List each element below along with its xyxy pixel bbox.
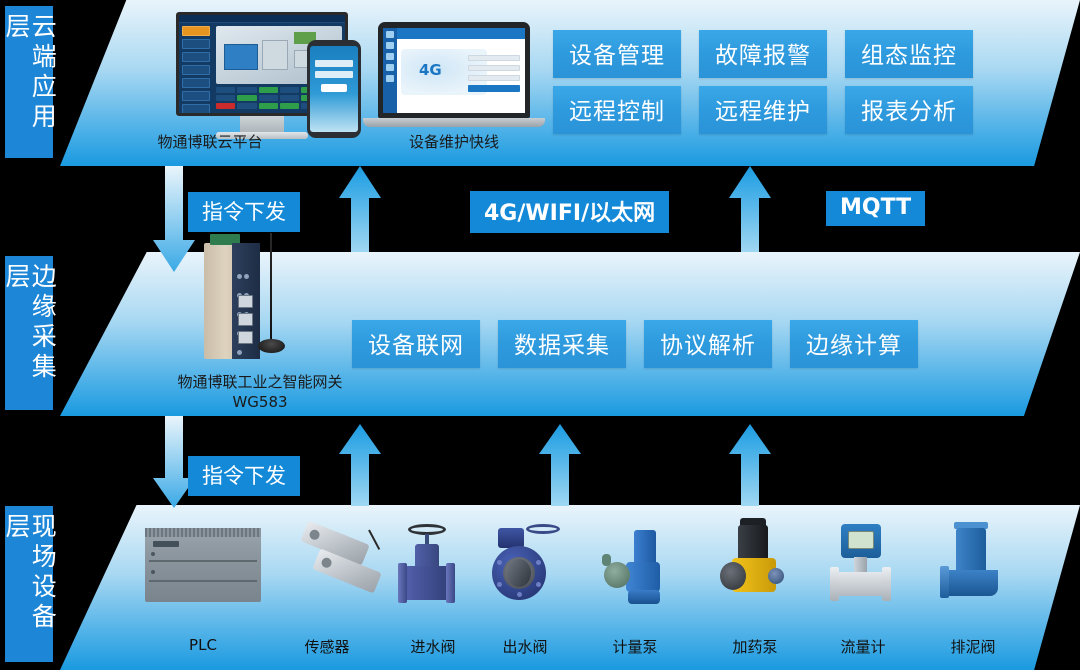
- gateway-port-1: [238, 295, 253, 308]
- four-g-graphic: 4G: [419, 61, 442, 79]
- cloud-feature-row-2: 远程控制 远程维护 报表分析: [553, 86, 973, 134]
- caption-maintenance-line: 设备维护快线: [368, 132, 540, 152]
- butterfly-valve-disc: [507, 559, 531, 587]
- flow-meter-flange-right: [882, 567, 891, 601]
- architecture-diagram: 云端应用层: [0, 0, 1080, 670]
- arrow-field-uplink-3: [728, 424, 772, 506]
- gate-valve-flange-right: [446, 563, 455, 603]
- gateway-led-array: [236, 265, 255, 287]
- arrow-field-uplink-1: [338, 424, 382, 506]
- gateway-antenna-base: [258, 339, 285, 353]
- pill-command-dispatch-bottom: 指令下发: [188, 456, 300, 496]
- arrow-uplink-2: [728, 166, 772, 252]
- feature-scada-monitoring[interactable]: 组态监控: [845, 30, 973, 78]
- caption-gateway: 物通博联工业之智能网关 WG583: [140, 372, 380, 413]
- gateway-body: [204, 243, 260, 359]
- device-label-plc: PLC: [148, 636, 258, 654]
- laptop-screen: 4G: [383, 28, 525, 113]
- gate-valve-flange-left: [398, 563, 407, 603]
- sludge-valve-flange: [940, 566, 949, 598]
- laptop-base: [363, 118, 545, 127]
- edge-gateway-device: [204, 243, 260, 359]
- dosing-pump-head: [720, 562, 746, 590]
- gateway-antenna: [270, 233, 272, 345]
- device-plc: [145, 528, 261, 602]
- flow-meter-flange-left: [830, 567, 839, 601]
- pill-command-dispatch-top: 指令下发: [188, 192, 300, 232]
- device-label-sludge-valve: 排泥阀: [918, 636, 1028, 657]
- feature-device-networking[interactable]: 设备联网: [352, 320, 480, 368]
- edge-feature-row: 设备联网 数据采集 协议解析 边缘计算: [352, 320, 918, 368]
- laptop-lid: 4G: [378, 22, 530, 118]
- device-label-dosing-pump: 加药泵: [700, 636, 810, 657]
- caption-cloud-platform: 物通博联云平台: [120, 132, 300, 152]
- pill-mqtt: MQTT: [826, 191, 925, 226]
- layer-title-field: 现场设备层: [5, 506, 53, 662]
- pill-network-protocol: 4G/WIFI/以太网: [470, 191, 669, 233]
- feature-remote-control[interactable]: 远程控制: [553, 86, 681, 134]
- gateway-name: 物通博联工业之智能网关: [177, 373, 342, 391]
- sludge-valve-body: [946, 570, 998, 596]
- butterfly-valve-actuator: [498, 528, 524, 548]
- monitor-stand: [240, 116, 284, 132]
- cloud-phone: [307, 40, 361, 138]
- app-titlebar: [397, 28, 525, 39]
- flow-meter-display: [848, 531, 874, 549]
- gate-valve-body: [404, 566, 450, 600]
- device-label-outlet-valve: 出水阀: [470, 636, 580, 657]
- flow-meter-transmitter: [841, 524, 881, 558]
- arrow-field-uplink-2: [538, 424, 582, 506]
- flow-meter-body: [833, 572, 889, 596]
- gateway-port-2: [238, 313, 253, 326]
- plc-brand-logo: [153, 541, 179, 547]
- plc-vent: [145, 528, 261, 537]
- layer-title-edge: 边缘采集层: [5, 256, 53, 410]
- metering-pump-housing: [626, 562, 660, 592]
- scada-nav: [179, 23, 213, 113]
- feature-fault-alarm[interactable]: 故障报警: [699, 30, 827, 78]
- gateway-front-panel: [232, 243, 260, 359]
- flow-meter-neck: [854, 557, 867, 573]
- metering-pump-motor: [634, 530, 656, 564]
- gateway-model: WG583: [232, 393, 287, 411]
- feature-remote-maintenance[interactable]: 远程维护: [699, 86, 827, 134]
- feature-protocol-parsing[interactable]: 协议解析: [644, 320, 772, 368]
- butterfly-valve-handwheel: [526, 524, 560, 534]
- device-label-flow-meter: 流量计: [808, 636, 918, 657]
- gate-valve-bonnet: [415, 544, 439, 566]
- arrow-uplink-1: [338, 166, 382, 252]
- phone-screen: [310, 46, 358, 132]
- device-label-sensor: 传感器: [272, 636, 382, 657]
- dosing-pump-motor: [738, 525, 768, 559]
- metering-pump-inlet: [602, 554, 611, 566]
- monitor-titlebar: [179, 15, 345, 23]
- cloud-feature-row-1: 设备管理 故障报警 组态监控: [553, 30, 973, 78]
- gateway-port-3: [238, 331, 253, 344]
- feature-edge-computing[interactable]: 边缘计算: [790, 320, 918, 368]
- plc-body: [145, 528, 261, 602]
- feature-device-management[interactable]: 设备管理: [553, 30, 681, 78]
- feature-data-acquisition[interactable]: 数据采集: [498, 320, 626, 368]
- butterfly-valve-body: [492, 546, 546, 600]
- dosing-pump-valve: [768, 568, 784, 584]
- login-form: [468, 55, 520, 92]
- metering-pump-base: [628, 590, 660, 604]
- device-label-metering-pump: 计量泵: [580, 636, 690, 657]
- cloud-laptop: 4G: [378, 22, 545, 127]
- desktop-icons: [383, 28, 397, 113]
- sludge-valve-cylinder: [956, 528, 986, 572]
- layer-title-cloud: 云端应用层: [5, 6, 53, 158]
- feature-report-analysis[interactable]: 报表分析: [845, 86, 973, 134]
